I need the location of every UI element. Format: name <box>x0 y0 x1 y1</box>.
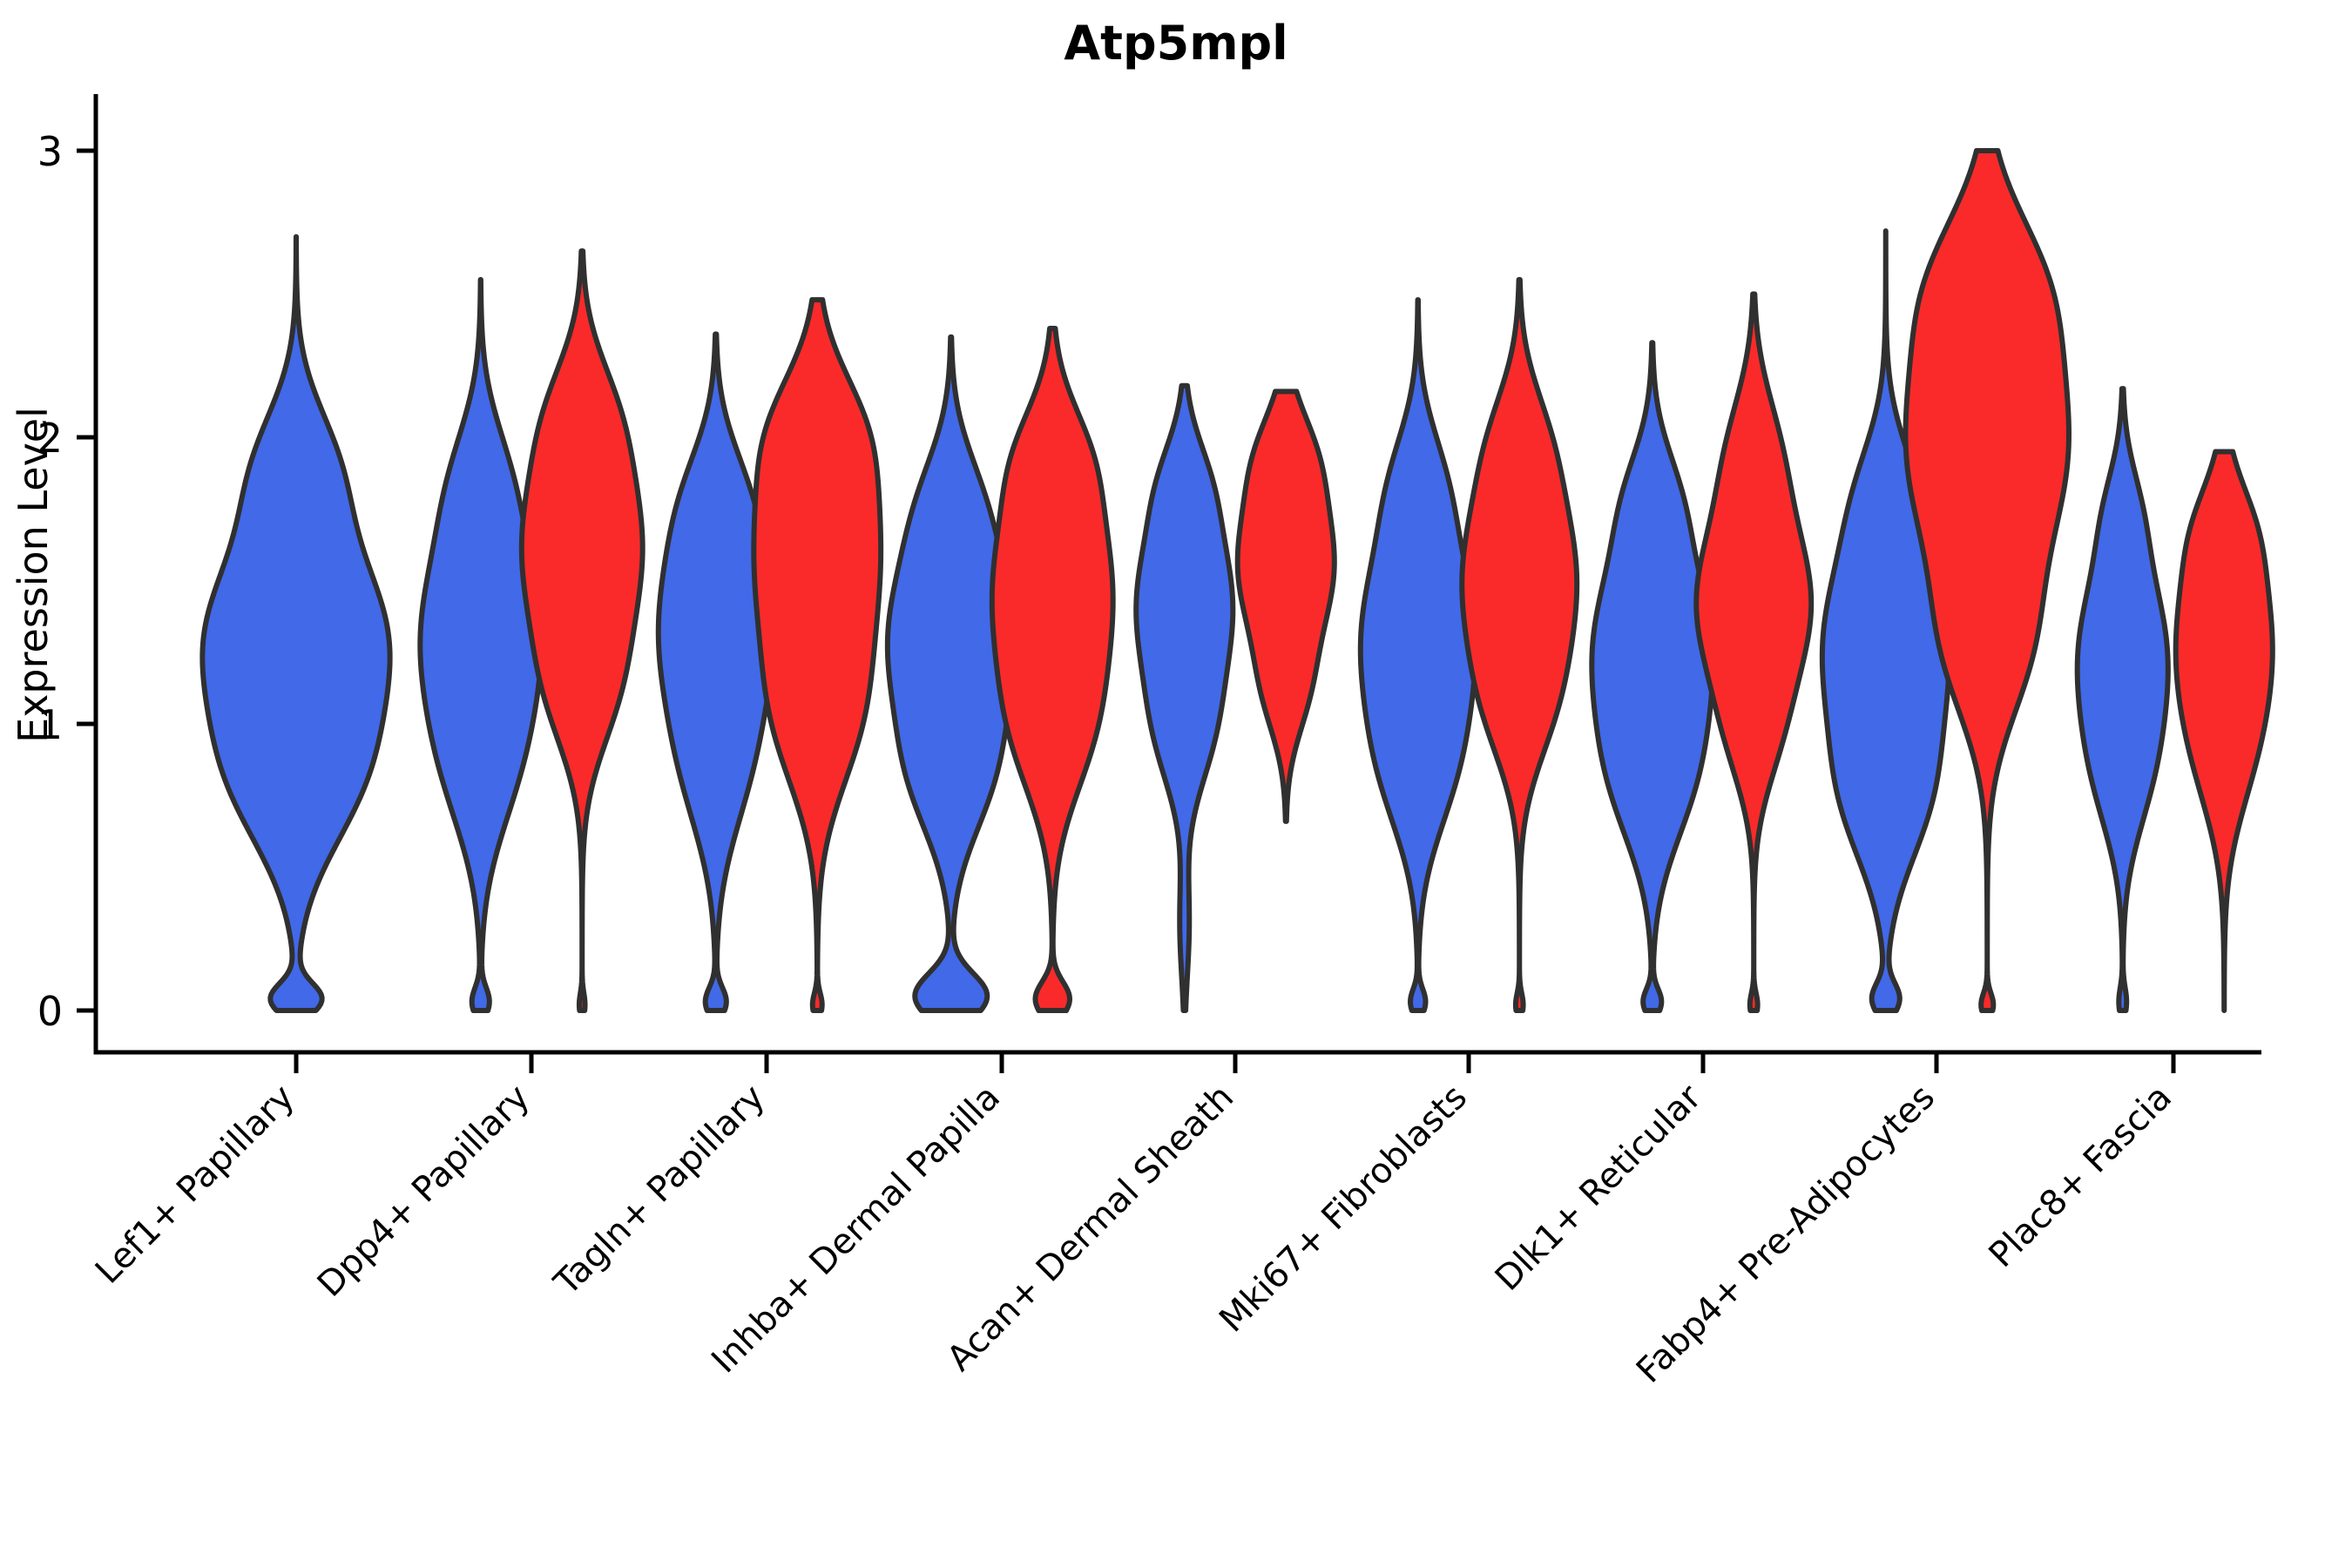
violin-plot-canvas: Atp5mpl Expression Level 0123 Lef1+ Papi… <box>0 0 2352 1568</box>
y-axis-tick-label: 0 <box>37 988 63 1035</box>
y-axis-tick-label: 1 <box>37 701 63 748</box>
page-title: Atp5mpl <box>1064 16 1288 71</box>
violin-plot-figure: Atp5mpl Expression Level 0123 Lef1+ Papi… <box>0 0 2352 1568</box>
y-axis-tick-label: 3 <box>37 128 63 175</box>
y-axis-tick-label: 2 <box>37 415 63 462</box>
